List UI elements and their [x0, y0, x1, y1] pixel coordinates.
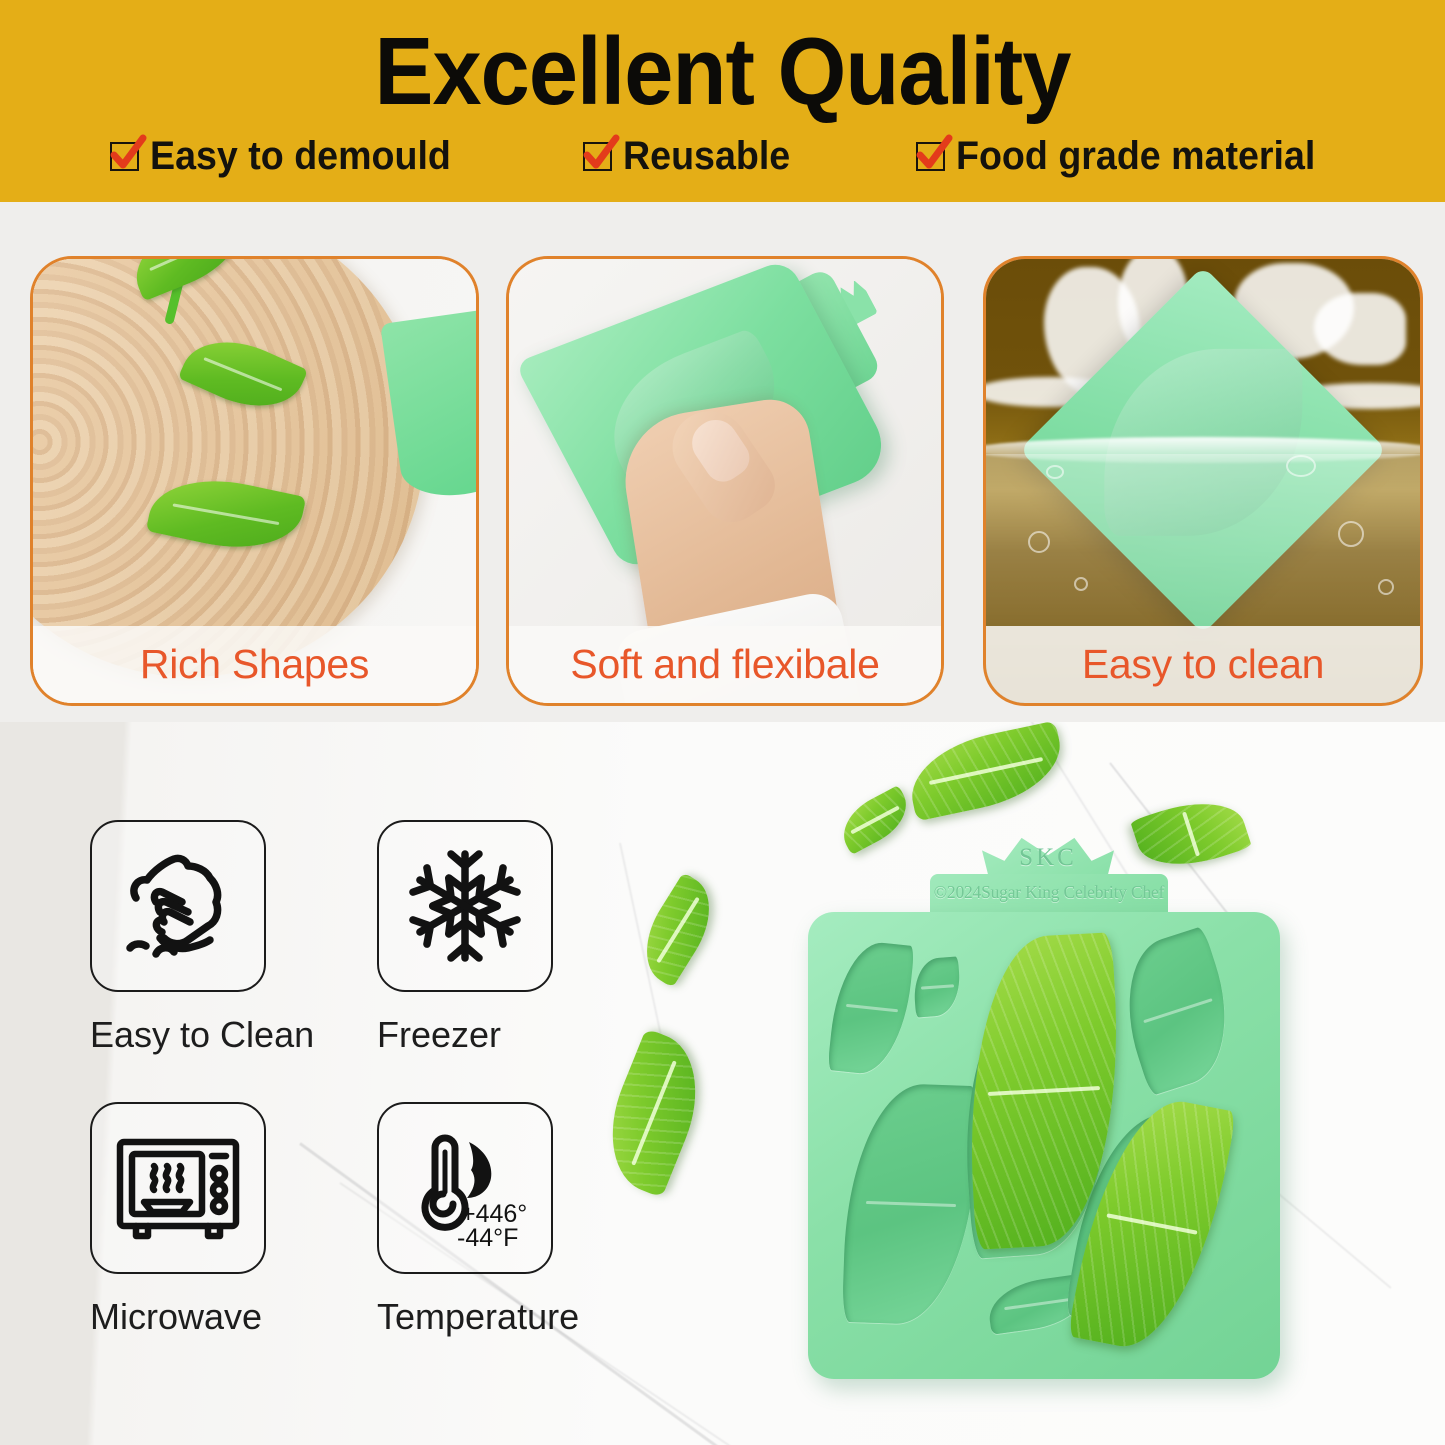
demoulded-leaf: [628, 872, 727, 988]
feature-card-label: Soft and flexibale: [509, 626, 941, 703]
water-surface: [983, 437, 1423, 463]
checklist-item-label: Food grade material: [956, 136, 1315, 176]
checkbox-checked-icon: [916, 142, 945, 171]
mold-cavity: [827, 938, 914, 1077]
product-showcase-section: Easy to Clean: [0, 722, 1445, 1445]
product-photo: SKC ©2024Sugar King Celebrity Chef: [0, 722, 1445, 1445]
mold-cavity: [912, 956, 962, 1017]
brand-mark: SKC: [982, 844, 1114, 872]
demoulded-leaf: [833, 785, 917, 855]
demoulded-leaf: [902, 722, 1069, 821]
feature-card-label: Easy to clean: [986, 626, 1420, 703]
checklist-item-reusable: Reusable: [583, 136, 801, 176]
feature-card-soft-and-flexible: Soft and flexibale: [506, 256, 944, 706]
demoulded-leaf: [1130, 788, 1252, 880]
header-banner: Excellent Quality Easy to demould Reusab…: [0, 0, 1445, 202]
feature-card-rich-shapes: Rich Shapes: [30, 256, 479, 706]
checklist-item-food-grade-material: Food grade material: [916, 136, 1338, 176]
demoulded-leaf: [589, 1028, 718, 1198]
wooden-board: [30, 256, 425, 677]
checklist-item-label: Easy to demould: [150, 136, 451, 176]
page-title: Excellent Quality: [58, 16, 1387, 128]
feature-card-label: Rich Shapes: [33, 626, 476, 703]
feature-card-easy-to-clean: Easy to clean: [983, 256, 1423, 706]
silicone-leaf-mold: [808, 912, 1280, 1379]
checklist-item-label: Reusable: [623, 136, 790, 176]
checklist-item-easy-to-demould: Easy to demould: [110, 136, 470, 176]
product-infographic: Excellent Quality Easy to demould Reusab…: [0, 0, 1445, 1445]
mold-cavity: [1106, 926, 1248, 1096]
checkbox-checked-icon: [583, 142, 612, 171]
copyright-text: ©2024Sugar King Celebrity Chef: [930, 882, 1168, 903]
mold-cavity: [842, 1082, 978, 1326]
feature-cards-row: Rich Shapes Soft and flexibale: [0, 202, 1445, 722]
header-checklist: Easy to demould Reusable Food grade mate…: [0, 136, 1445, 176]
checkbox-checked-icon: [110, 142, 139, 171]
